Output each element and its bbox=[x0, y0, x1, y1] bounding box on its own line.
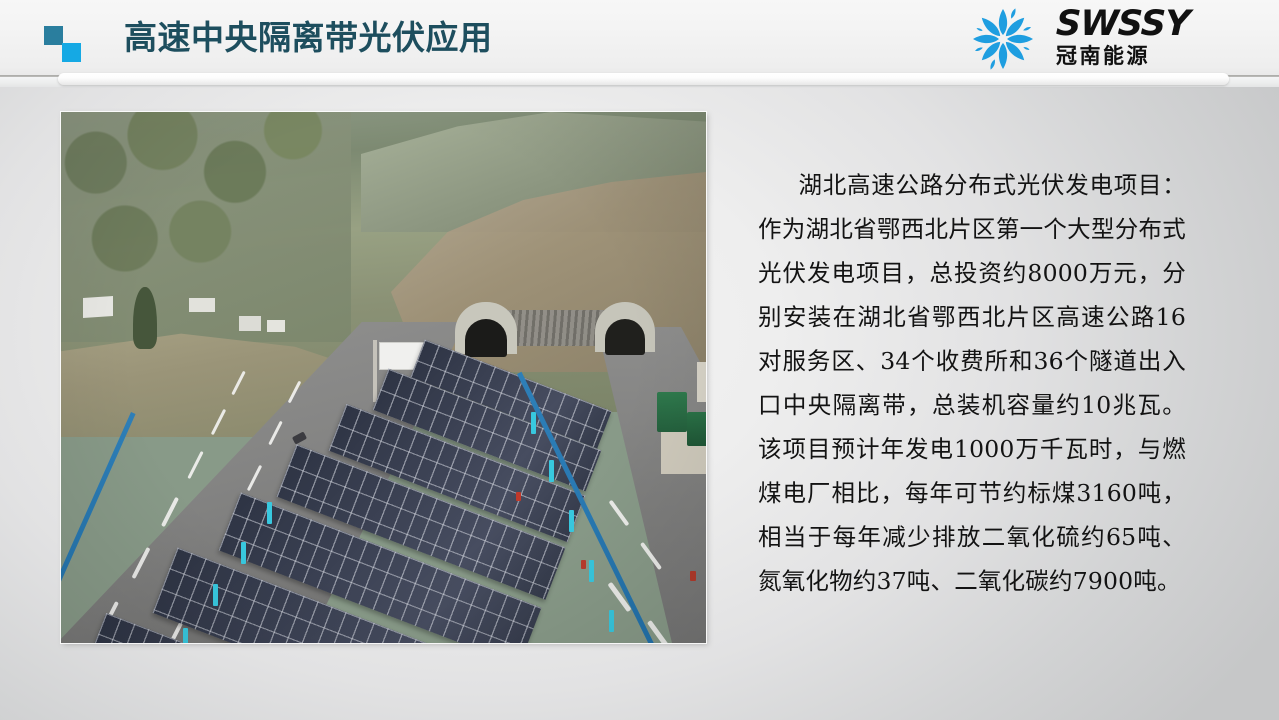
page-title: 高速中央隔离带光伏应用 bbox=[124, 16, 493, 60]
decoration-square-light bbox=[62, 43, 81, 62]
body-paragraph: 湖北高速公路分布式光伏发电项目：作为湖北省鄂西北片区第一个大型分布式光伏发电项目… bbox=[758, 163, 1186, 603]
photo-guardrail-post bbox=[183, 628, 188, 643]
photo-guardrail-post bbox=[531, 412, 536, 434]
title-decoration bbox=[44, 26, 88, 62]
photo-lane-dash bbox=[187, 451, 203, 479]
photo-lane-dash bbox=[609, 500, 630, 527]
photo-guardrail-post bbox=[569, 510, 574, 532]
photo-traffic-cone bbox=[516, 492, 521, 501]
photo-building bbox=[83, 296, 113, 318]
photo-green-signboard bbox=[657, 392, 687, 432]
header-divider-bar bbox=[58, 73, 1229, 85]
logo-wordmark: SWSSY bbox=[1055, 6, 1226, 42]
photo-frame bbox=[61, 112, 706, 643]
logo-subtitle: 冠南能源 bbox=[1056, 44, 1226, 70]
photo-guardrail-post bbox=[589, 560, 594, 582]
presentation-slide: 高速中央隔离带光伏应用 bbox=[0, 0, 1279, 720]
photo-guardrail-post bbox=[609, 610, 614, 632]
photo-sign-post bbox=[373, 340, 377, 402]
photo-building bbox=[189, 298, 215, 312]
photo-guardrail-post bbox=[213, 584, 218, 606]
photo-tunnel-mouth-left bbox=[465, 319, 507, 357]
photo-guardrail-post bbox=[267, 502, 272, 524]
photo-cypress-tree bbox=[133, 287, 157, 349]
highway-solar-aerial-photo bbox=[61, 112, 706, 643]
photo-traffic-cone bbox=[690, 571, 696, 581]
photo-guardrail-post bbox=[241, 542, 246, 564]
photo-green-signboard bbox=[687, 412, 706, 446]
water-droplet-petal-ring-icon bbox=[955, 4, 1051, 74]
photo-building bbox=[697, 362, 706, 402]
photo-building bbox=[267, 320, 285, 332]
company-logo: SWSSY 冠南能源 bbox=[955, 2, 1225, 74]
photo-guardrail-post bbox=[549, 460, 554, 482]
photo-building bbox=[239, 316, 261, 331]
logo-text-block: SWSSY 冠南能源 bbox=[1056, 6, 1226, 70]
photo-tunnel-mouth-right bbox=[605, 319, 645, 355]
decoration-square-dark bbox=[44, 26, 63, 45]
photo-traffic-cone bbox=[581, 560, 586, 569]
